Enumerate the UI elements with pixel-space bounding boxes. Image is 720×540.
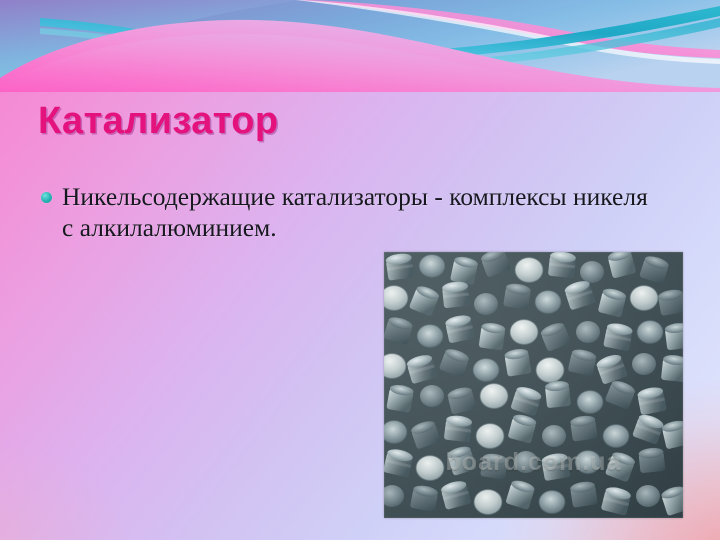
pellets-illustration [384,252,683,518]
nickel-pellets-photo: board.com.ua [384,252,683,518]
bullet-list-item: Никельсодержащие катализаторы - комплекс… [32,181,652,243]
presentation-slide: Катализатор Никельсодержащие катализатор… [0,0,720,540]
filled-circle-bullet-icon [41,192,52,203]
slide-decorative-wave-band [0,0,720,92]
slide-title: Катализатор [38,99,678,143]
bullet-text: Никельсодержащие катализаторы - комплекс… [62,182,648,242]
slide-body: Никельсодержащие катализаторы - комплекс… [32,181,652,243]
